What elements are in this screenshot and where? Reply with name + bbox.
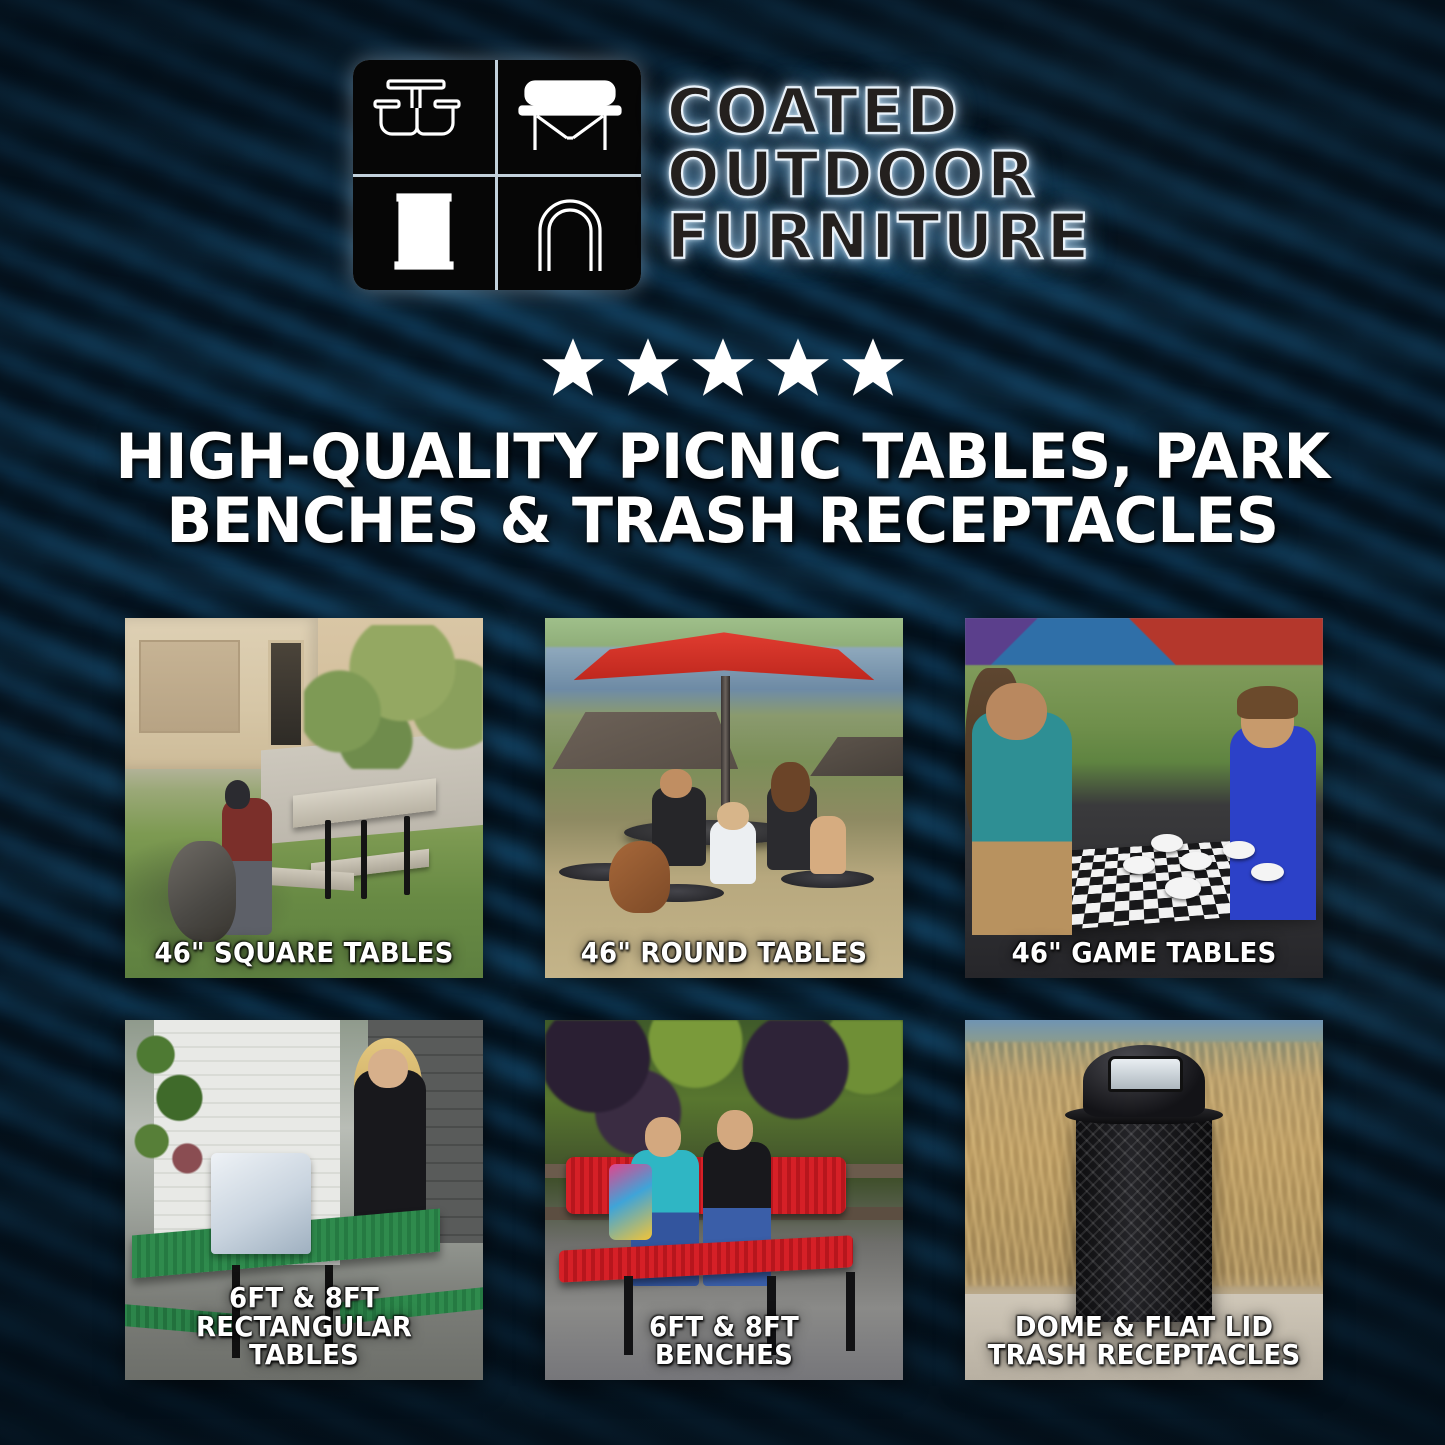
star-icon [692,338,754,398]
product-tile-game-tables[interactable]: 46" GAME TABLES [965,618,1323,978]
caption-line-2: BENCHES [563,1341,885,1370]
caption-line-1: 46" ROUND TABLES [563,939,885,968]
caption-line-2: RECTANGULAR TABLES [143,1313,465,1370]
product-photo-round-tables [545,618,903,978]
logo-icon-grid [353,60,641,290]
headline-line-2: BENCHES & TRASH RECEPTACLES [22,489,1424,553]
star-icon [542,338,604,398]
caption-line-1: 46" GAME TABLES [983,939,1305,968]
product-caption: 46" ROUND TABLES [558,939,891,968]
brand-name-line-2: OUTDOOR [667,145,1092,206]
caption-line-1: 6FT & 8FT [563,1313,885,1342]
trash-receptacle-icon [353,177,496,291]
brand-name-line-1: COATED [667,82,1092,143]
product-photo-square-tables [125,618,483,978]
product-caption: 46" SQUARE TABLES [138,939,471,968]
product-tile-benches[interactable]: 6FT & 8FT BENCHES [545,1020,903,1380]
product-caption: DOME & FLAT LID TRASH RECEPTACLES [978,1313,1311,1370]
bike-rack-icon [498,177,641,291]
caption-line-2: TRASH RECEPTACLES [983,1341,1305,1370]
caption-line-1: DOME & FLAT LID [983,1313,1305,1342]
star-icon [842,338,904,398]
star-rating [0,338,1445,398]
headline-line-1: HIGH-QUALITY PICNIC TABLES, PARK [22,425,1424,489]
brand-logo: COATED OUTDOOR FURNITURE [0,60,1445,290]
product-tile-rectangular-tables[interactable]: 6FT & 8FT RECTANGULAR TABLES [125,1020,483,1380]
bench-table-icon [498,60,641,174]
star-icon [617,338,679,398]
product-tile-round-tables[interactable]: 46" ROUND TABLES [545,618,903,978]
product-tile-trash-receptacles[interactable]: DOME & FLAT LID TRASH RECEPTACLES [965,1020,1323,1380]
product-caption: 6FT & 8FT RECTANGULAR TABLES [138,1284,471,1370]
picnic-table-icon [353,60,496,174]
brand-name-line-3: FURNITURE [667,207,1092,268]
caption-line-1: 46" SQUARE TABLES [143,939,465,968]
promo-banner: COATED OUTDOOR FURNITURE HIGH-QUALITY PI… [0,0,1445,1445]
product-caption: 46" GAME TABLES [978,939,1311,968]
product-photo-game-tables [965,618,1323,978]
product-caption: 6FT & 8FT BENCHES [558,1313,891,1370]
caption-line-1: 6FT & 8FT [143,1284,465,1313]
brand-wordmark: COATED OUTDOOR FURNITURE [667,82,1092,268]
star-icon [767,338,829,398]
product-tile-square-tables[interactable]: 46" SQUARE TABLES [125,618,483,978]
product-grid: 46" SQUARE TABLES [125,618,1323,1380]
page-title: HIGH-QUALITY PICNIC TABLES, PARK BENCHES… [22,425,1424,553]
